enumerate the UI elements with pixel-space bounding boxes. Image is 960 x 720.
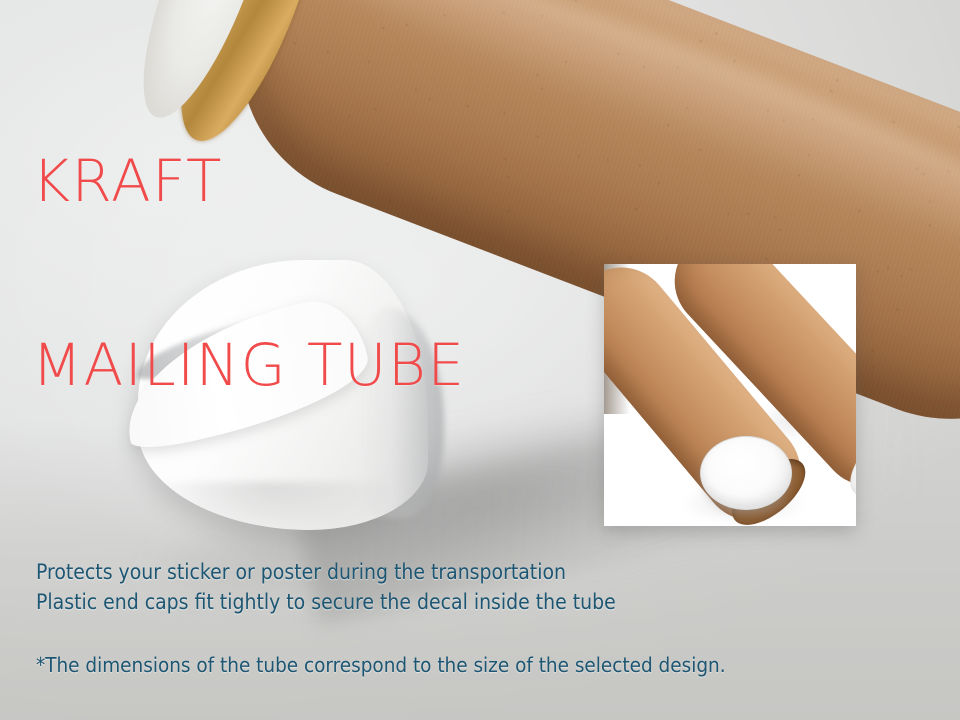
page-title: KRAFT MAILING TUBE	[32, 28, 466, 520]
title-line-2: MAILING TUBE	[32, 335, 466, 396]
title-line-1: KRAFT	[32, 151, 466, 212]
benefits-text: Protects your sticker or poster during t…	[36, 558, 616, 618]
inset-tube-upper-cap	[838, 411, 856, 510]
inset-loose-end-cap	[700, 436, 792, 510]
benefit-line-2: Plastic end caps fit tightly to secure t…	[36, 588, 616, 618]
inset-photo-canvas	[604, 264, 856, 526]
inset-product-photo	[604, 264, 856, 526]
footnote-text: *The dimensions of the tube correspond t…	[36, 653, 726, 677]
product-promo-banner: KRAFT MAILING TUBE Protects your sticker…	[0, 0, 960, 720]
benefit-line-1: Protects your sticker or poster during t…	[36, 558, 616, 588]
